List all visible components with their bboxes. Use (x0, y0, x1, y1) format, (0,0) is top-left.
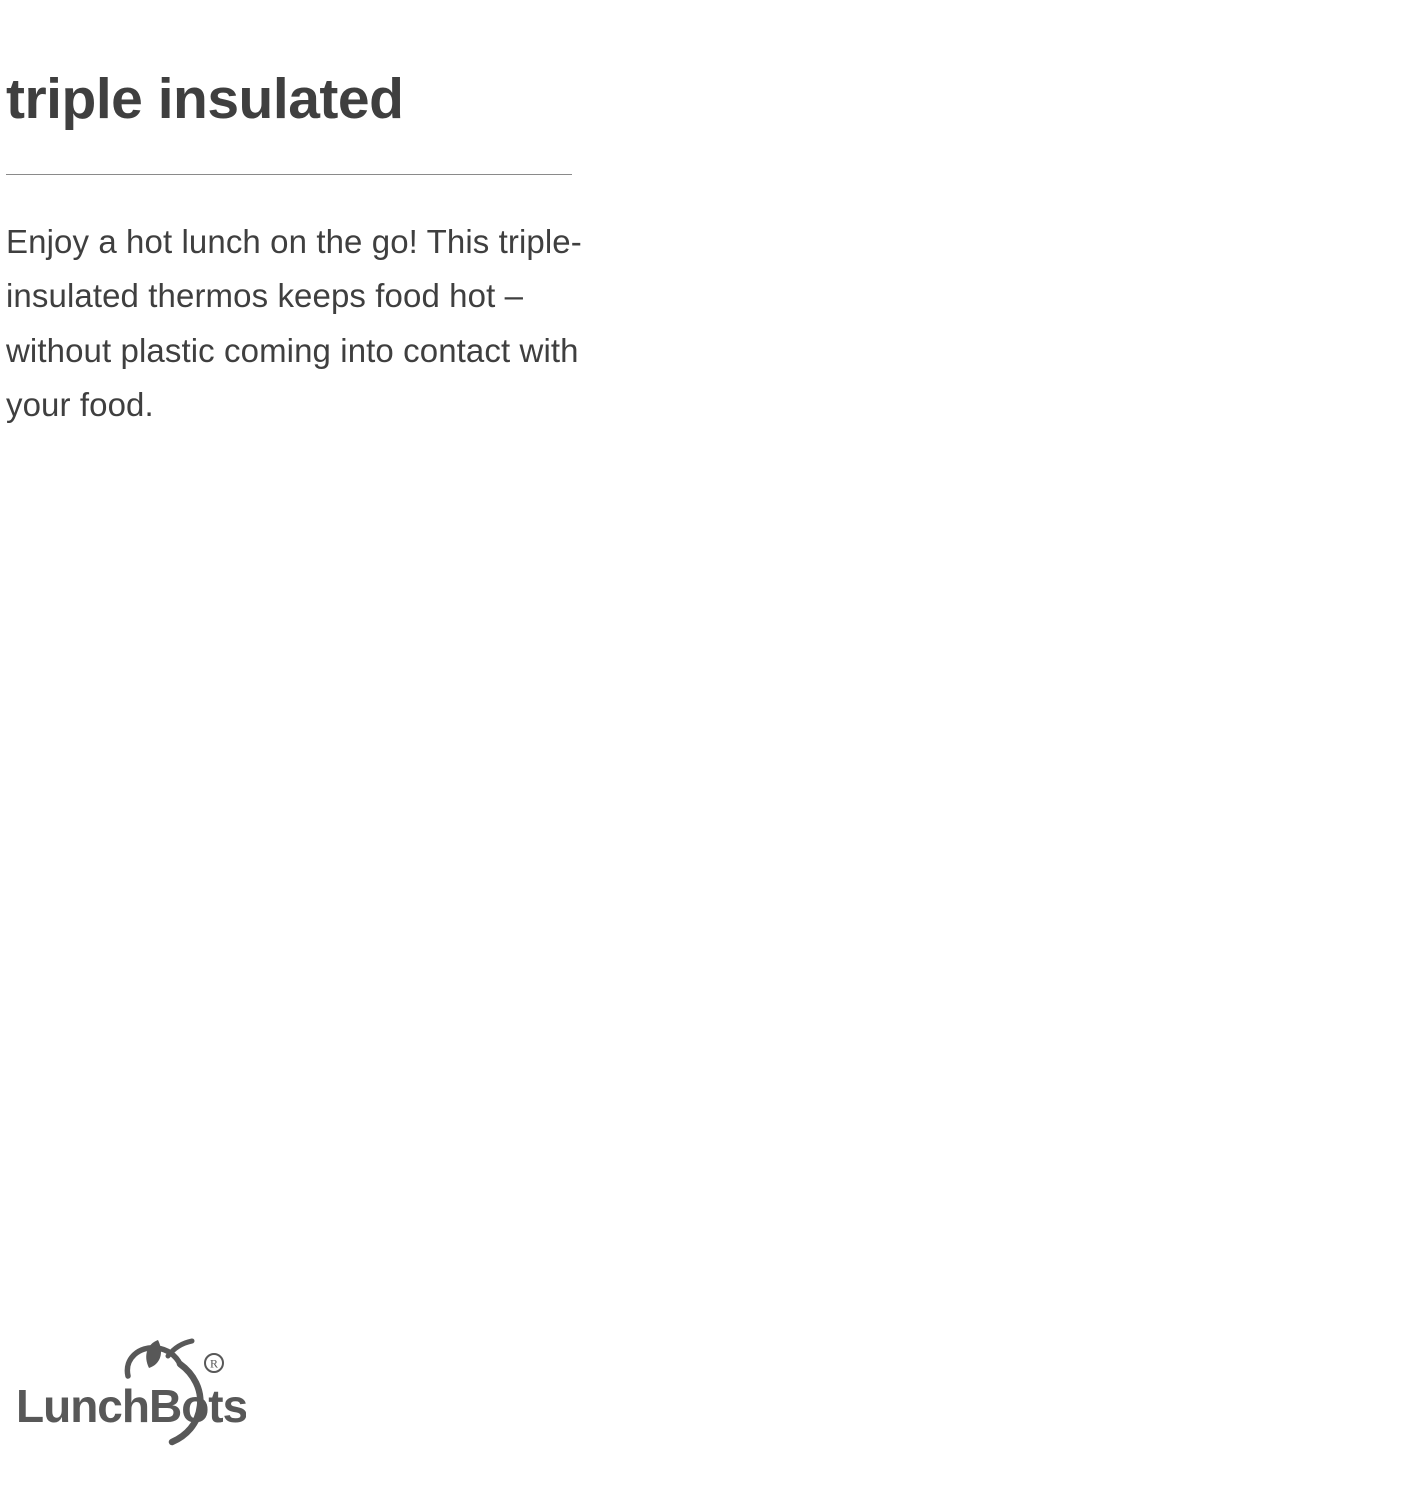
thermos-red (947, 0, 1420, 457)
brand-wordmark: LunchBots (16, 1380, 246, 1432)
thermos-pink (775, 827, 1242, 1348)
thermos-cyan-bottom (453, 1144, 968, 1500)
marketing-image-canvas: triple insulated Enjoy a hot lunch on th… (0, 0, 1420, 1500)
copy-block: triple insulated Enjoy a hot lunch on th… (6, 70, 606, 433)
brand-logo: R LunchBots (16, 1332, 246, 1452)
thermos-green (169, 722, 644, 1244)
thermos-purple-bottom (1081, 1245, 1420, 1500)
page-title: triple insulated (6, 70, 606, 130)
thermos-cyan-top (557, 0, 1024, 185)
registered-mark-icon: R (205, 1354, 223, 1372)
thermos-orange (1141, 510, 1420, 1032)
svg-text:R: R (210, 1357, 218, 1371)
divider (6, 174, 572, 175)
thermos-purple (535, 331, 1017, 855)
body-paragraph: Enjoy a hot lunch on the go! This triple… (6, 215, 606, 433)
leaf-icon (146, 1340, 161, 1368)
